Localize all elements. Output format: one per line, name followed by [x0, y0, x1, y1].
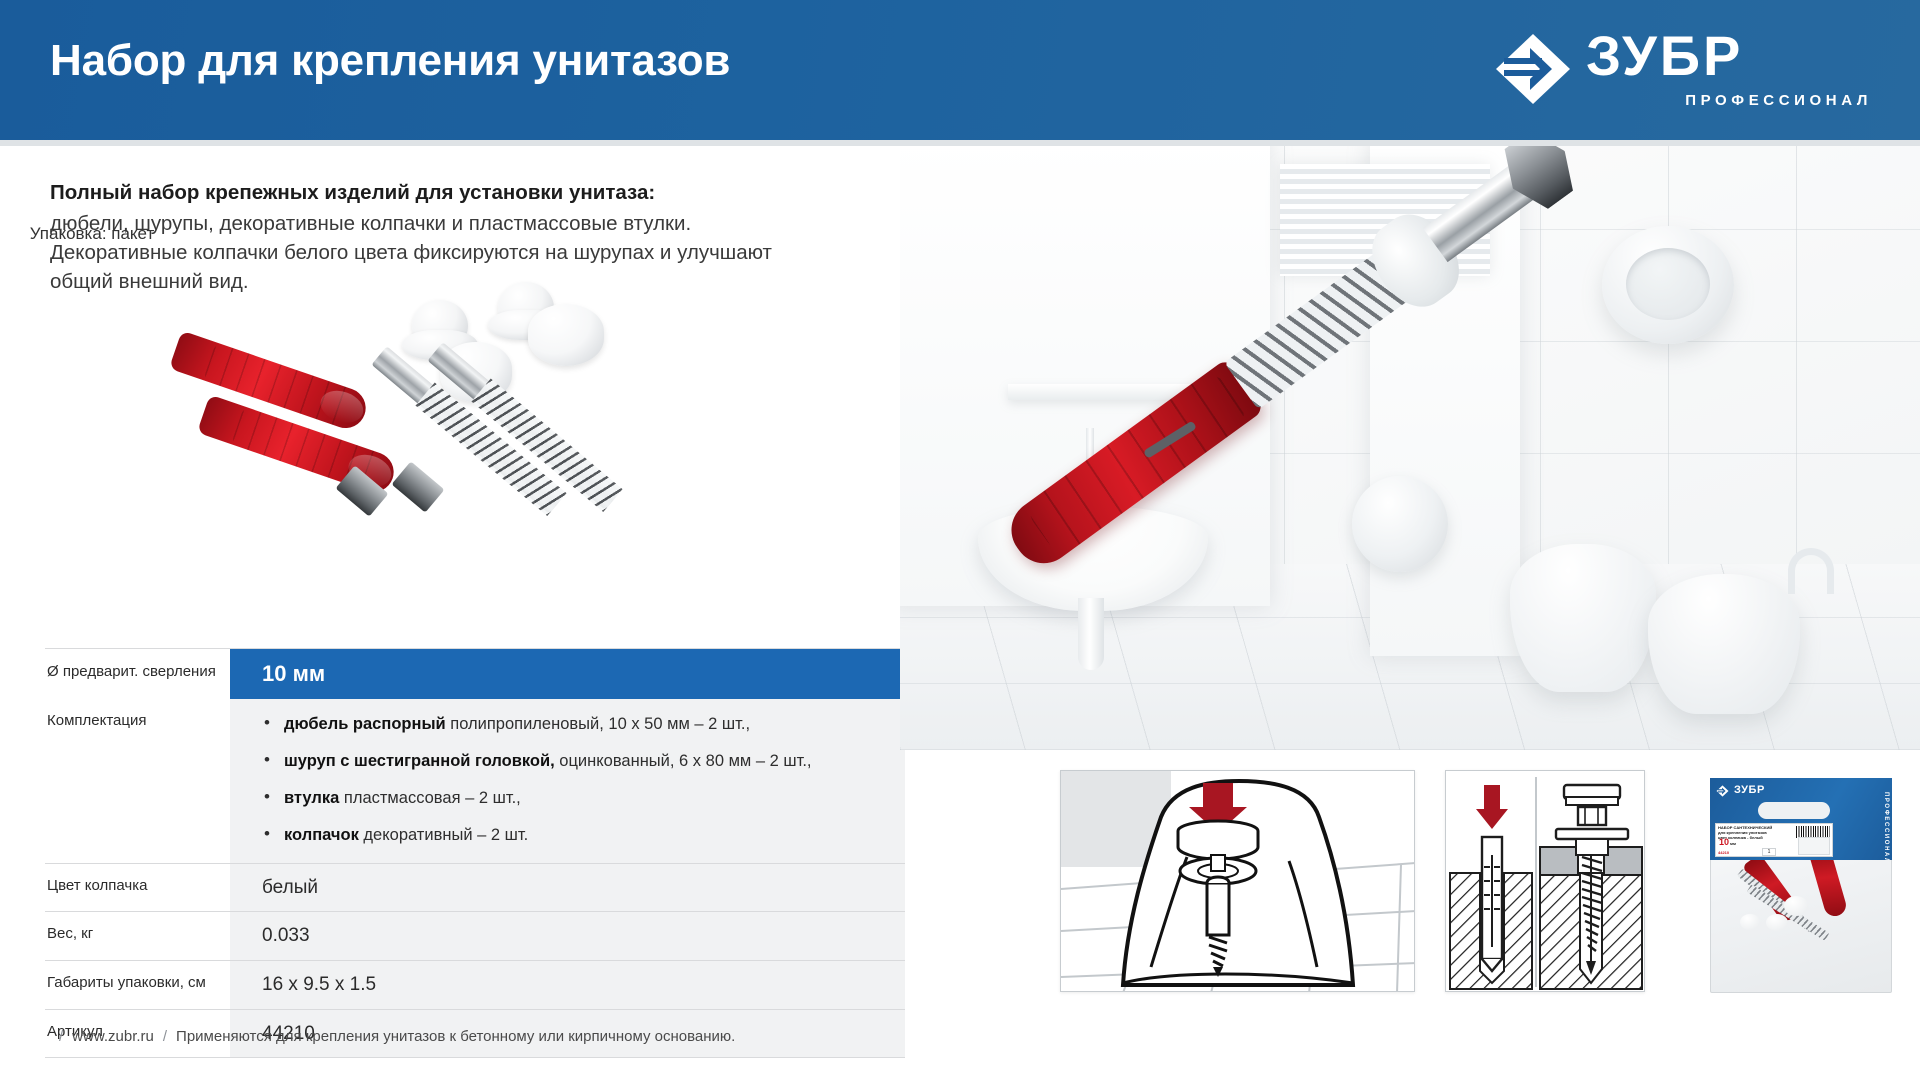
package-side-tagline: ПРОФЕССИОНАЛ	[1883, 792, 1889, 860]
kit-item-3-rest: декоративный – 2 шт.	[359, 826, 528, 844]
package-label-article: 44210	[1718, 850, 1729, 855]
plastic-sleeve-hero	[1352, 476, 1448, 572]
installation-diagram-1	[1060, 770, 1415, 992]
list-item: дюбель распорный полипропиленовый, 10 x …	[262, 713, 905, 735]
footer-website[interactable]: www.zubr.ru	[72, 1028, 154, 1045]
sleeve-diagram	[1576, 839, 1608, 855]
description-lead: Полный набор крепежных изделий для устан…	[50, 178, 890, 207]
package-cap-2	[1766, 914, 1788, 931]
dowel-diagram-left	[1482, 837, 1502, 971]
zubr-logo: ЗУБР ПРОФЕССИОНАЛ	[1494, 26, 1874, 118]
spec-value-package-dimensions: 16 x 9.5 x 1.5	[230, 961, 905, 1009]
kit-item-1-bold: шуруп с шестигранной головкой,	[284, 752, 555, 770]
kit-item-2-bold: втулка	[284, 789, 339, 807]
washer-diagram	[1556, 829, 1628, 839]
kit-contents-list: дюбель распорный полипропиленовый, 10 x …	[262, 713, 905, 847]
package-label-size: 10мм	[1718, 837, 1736, 847]
footer-slash-1: /	[59, 1028, 63, 1045]
bidet	[1648, 574, 1800, 714]
toilet-bowl	[1510, 544, 1656, 692]
footer: /www.zubr.ru/Применяются для крепления у…	[50, 1028, 735, 1045]
zubr-logo-tagline: ПРОФЕССИОНАЛ	[1685, 92, 1872, 109]
table-row: Вес, кг 0.033	[45, 912, 905, 960]
zubr-logo-mark-icon	[1494, 32, 1572, 106]
hero-bathroom-image	[900, 146, 1920, 750]
package-label-mini-diagram	[1798, 837, 1830, 855]
table-row: Цвет колпачка белый	[45, 864, 905, 912]
footer-note: Применяются для крепления унитазов к бет…	[176, 1028, 735, 1045]
base-block-left	[1540, 847, 1578, 875]
package-caption: Упаковка: пакет	[0, 224, 212, 244]
decorative-cap-diagram-2	[1564, 785, 1620, 805]
package-logo-wordmark: ЗУБР	[1734, 784, 1765, 796]
sink-pedestal	[1078, 598, 1104, 670]
package-hang-hole	[1758, 802, 1830, 819]
package-label: НАБОР САНТЕХНИЧЕСКИЙ для крепления унита…	[1715, 823, 1833, 857]
zubr-logo-wordmark: ЗУБР	[1586, 28, 1743, 84]
package-logo-mark-icon	[1716, 785, 1729, 797]
kit-item-0-bold: дюбель распорный	[284, 715, 446, 733]
package-label-qty: 1	[1762, 848, 1776, 856]
spec-table: Ø предварит. сверления 10 мм Комплектаци…	[45, 648, 905, 1058]
table-divider	[45, 1057, 905, 1058]
decorative-cap-2	[528, 304, 604, 366]
product-datasheet: Набор для крепления унитазов ЗУБР ПРОФЕС…	[0, 0, 1920, 1080]
kit-item-0-rest: полипропиленовый, 10 x 50 мм – 2 шт.,	[446, 715, 750, 733]
spec-label-weight: Вес, кг	[45, 912, 230, 960]
diagram-1-svg	[1061, 771, 1415, 992]
base-block-right	[1604, 847, 1642, 875]
package-photo: ЗУБР ПРОФЕССИОНАЛ НАБОР САНТЕХНИЧЕСКИЙ д…	[1710, 778, 1892, 993]
kit-item-3-bold: колпачок	[284, 826, 359, 844]
package-header-card: ЗУБР ПРОФЕССИОНАЛ НАБОР САНТЕХНИЧЕСКИЙ д…	[1710, 778, 1892, 860]
bidet-faucet-icon	[1788, 548, 1834, 594]
table-row: Комплектация дюбель распорный полипропил…	[45, 699, 905, 863]
decorative-cap-diagram	[1178, 821, 1258, 859]
decorative-cap-large	[1602, 226, 1734, 344]
spec-label-drill-diameter: Ø предварит. сверления	[45, 649, 230, 699]
diagram-2-svg	[1446, 771, 1645, 992]
hex-head-diagram	[1578, 807, 1606, 825]
package-cap-1	[1740, 914, 1760, 930]
installation-diagram-2	[1445, 770, 1645, 992]
page-title: Набор для крепления унитазов	[50, 36, 730, 86]
package-sleeve-1	[1784, 896, 1808, 916]
spec-label-package-dimensions: Габариты упаковки, см	[45, 961, 230, 1009]
spec-value-weight: 0.033	[230, 912, 905, 960]
table-row: Габариты упаковки, см 16 x 9.5 x 1.5	[45, 961, 905, 1009]
kit-item-2-rest: пластмассовая – 2 шт.,	[339, 789, 520, 807]
spec-label-kit-contents: Комплектация	[45, 699, 230, 863]
description-line-3: общий внешний вид.	[50, 267, 890, 296]
table-row: Ø предварит. сверления 10 мм	[45, 649, 905, 699]
hex-screw-head-2	[392, 461, 445, 512]
page-header: Набор для крепления унитазов ЗУБР ПРОФЕС…	[0, 0, 1920, 140]
product-photo	[180, 300, 650, 630]
spec-value-kit-contents: дюбель распорный полипропиленовый, 10 x …	[230, 699, 905, 863]
kit-item-1-rest: оцинкованный, 6 x 80 мм – 2 шт.,	[555, 752, 812, 770]
list-item: втулка пластмассовая – 2 шт.,	[262, 787, 905, 809]
list-item: шуруп с шестигранной головкой, оцинкован…	[262, 750, 905, 772]
spec-label-cap-color: Цвет колпачка	[45, 864, 230, 912]
footer-slash-2: /	[163, 1028, 167, 1045]
list-item: колпачок декоративный – 2 шт.	[262, 824, 905, 846]
spec-value-cap-color: белый	[230, 864, 905, 912]
spec-value-drill-diameter: 10 мм	[230, 649, 905, 699]
